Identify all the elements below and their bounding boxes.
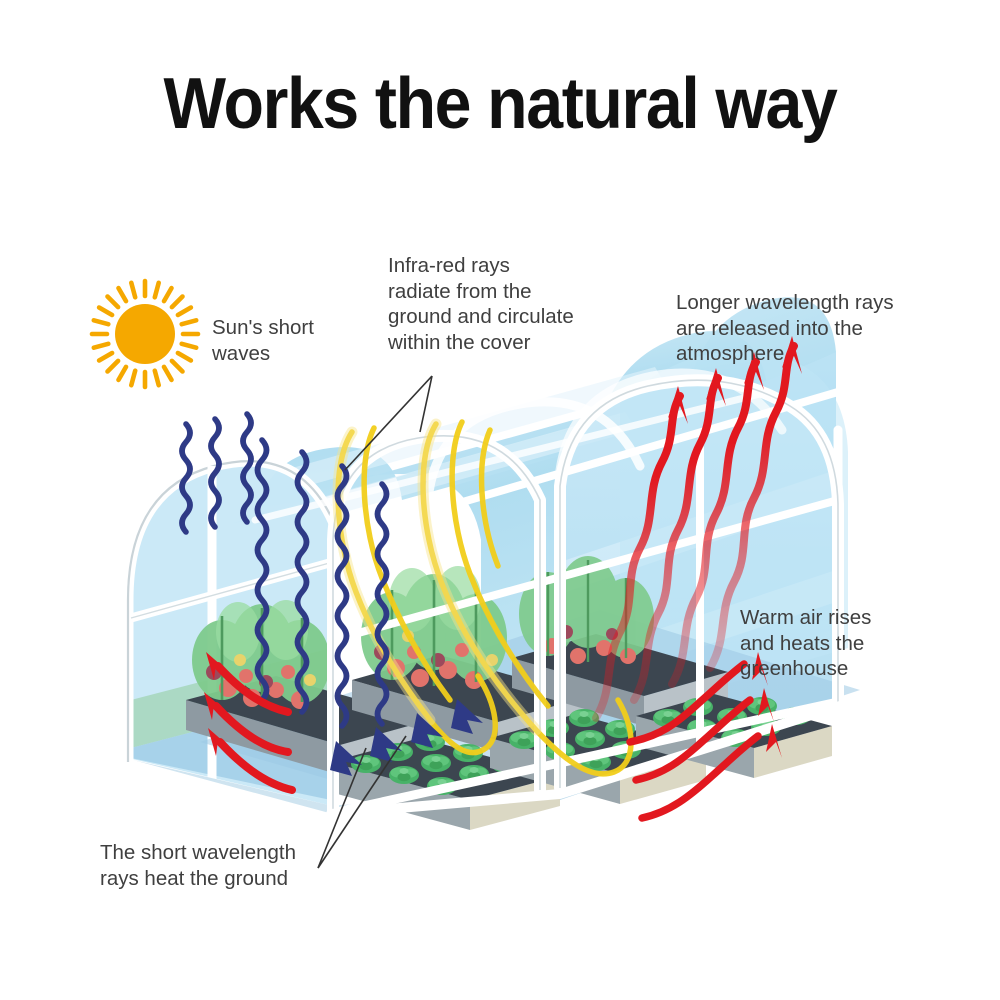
infographic-canvas: Works the natural way	[0, 0, 1000, 1000]
caption-suns-short-waves: Sun's short waves	[212, 315, 372, 366]
caption-warm-air-rises: Warm air rises and heats the greenhouse	[740, 605, 940, 682]
caption-longer-wavelength-rays: Longer wavelength rays are released into…	[676, 290, 936, 367]
sun-icon	[92, 281, 198, 387]
caption-infra-red-rays: Infra-red rays radiate from the ground a…	[388, 253, 608, 355]
caption-short-wavelength-heats-ground: The short wavelength rays heat the groun…	[100, 840, 350, 891]
